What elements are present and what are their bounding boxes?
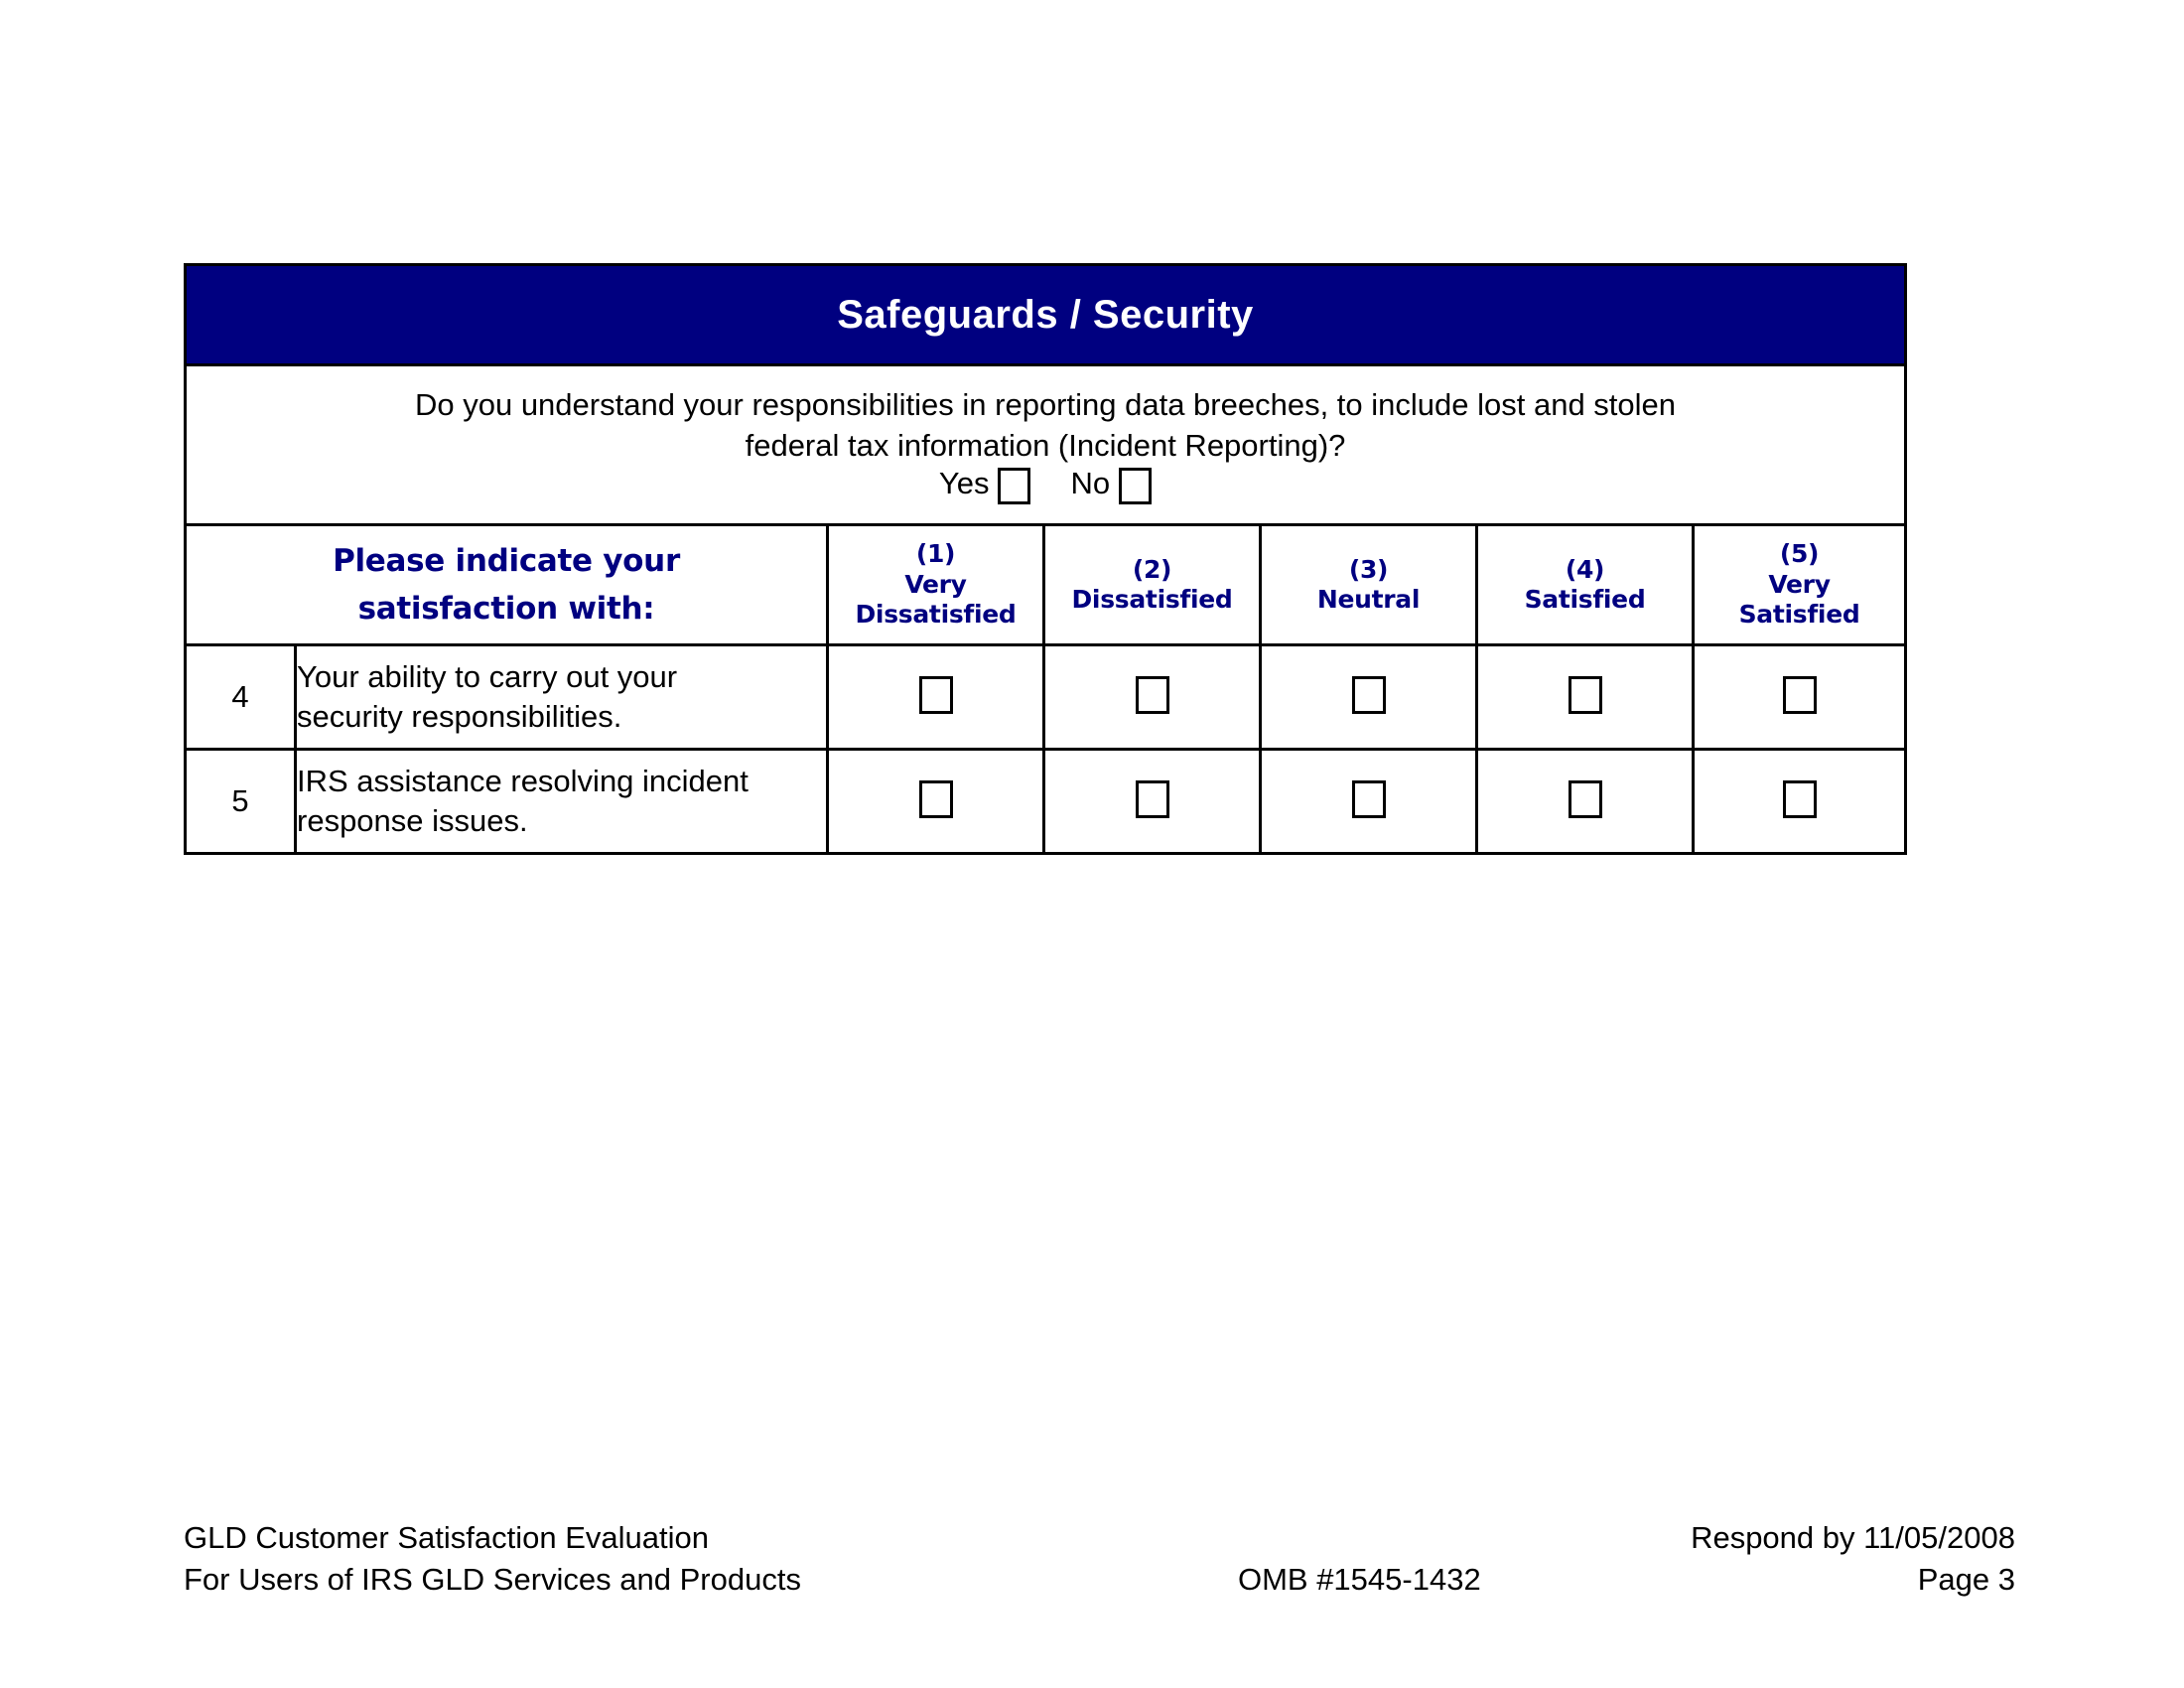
rating-column-number-4: (4) [1478,555,1692,586]
rating-column-header-3: (3) Neutral [1261,525,1477,645]
checkbox[interactable] [1569,780,1602,818]
table-row: 5 IRS assistance resolving incident resp… [186,750,1906,854]
rating-column-header-1: (1) Very Dissatisfied [828,525,1044,645]
checkbox[interactable] [1783,676,1817,714]
item-text-5-line-1: IRS assistance resolving incident [297,764,749,798]
checkbox[interactable] [1136,780,1169,818]
question-text-line-1: Do you understand your responsibilities … [415,387,1676,422]
item-5-rating-3[interactable] [1261,750,1477,854]
footer-page-number: Page 3 [1918,1559,2015,1601]
footer-respond-by: Respond by 11/05/2008 [1691,1517,2015,1559]
rating-column-header-2: (2) Dissatisfied [1044,525,1261,645]
checkbox[interactable] [1352,676,1386,714]
rating-column-number-3: (3) [1262,555,1475,586]
item-4-rating-3[interactable] [1261,645,1477,750]
item-4-rating-2[interactable] [1044,645,1261,750]
yes-checkbox[interactable] [998,468,1030,504]
checkbox[interactable] [919,676,953,714]
yes-no-question-text: Do you understand your responsibilities … [187,385,1904,467]
yes-label: Yes [939,468,990,504]
rating-column-header-4: (4) Satisfied [1477,525,1694,645]
item-5-rating-2[interactable] [1044,750,1261,854]
page-footer: GLD Customer Satisfaction Evaluation Res… [184,1517,2015,1600]
footer-title: GLD Customer Satisfaction Evaluation [184,1517,709,1559]
item-number-4: 4 [186,645,296,750]
item-text-5-line-2: response issues. [297,803,528,838]
yes-no-question-row: Do you understand your responsibilities … [186,365,1906,525]
rating-column-label-1a: Very [829,570,1042,601]
checkbox[interactable] [1783,780,1817,818]
item-4-rating-5[interactable] [1694,645,1906,750]
footer-omb-number: OMB #1545-1432 [1238,1559,1481,1601]
rating-column-label-5b: Satisfied [1695,600,1904,631]
item-text-5: IRS assistance resolving incident respon… [296,750,828,854]
item-text-4-line-1: Your ability to carry out your [297,659,677,694]
rating-column-label-1b: Dissatisfied [829,600,1042,631]
checkbox[interactable] [1136,676,1169,714]
rating-column-header-5: (5) Very Satisfied [1694,525,1906,645]
yes-no-answer-row: Yes No [187,468,1904,504]
footer-line-1: GLD Customer Satisfaction Evaluation Res… [184,1517,2015,1559]
rating-column-number-2: (2) [1045,555,1259,586]
item-text-4-line-2: security responsibilities. [297,699,621,734]
rating-prompt-line-2: satisfaction with: [187,585,826,633]
no-label: No [1070,468,1110,504]
checkbox[interactable] [1569,676,1602,714]
rating-column-label-5a: Very [1695,570,1904,601]
yes-option-group[interactable]: Yes [939,468,1031,504]
yes-no-question-cell: Do you understand your responsibilities … [186,365,1906,525]
footer-subtitle: For Users of IRS GLD Services and Produc… [184,1559,801,1601]
item-5-rating-5[interactable] [1694,750,1906,854]
rating-column-number-1: (1) [829,539,1042,570]
table-row: 4 Your ability to carry out your securit… [186,645,1906,750]
footer-line-2: For Users of IRS GLD Services and Produc… [184,1559,2015,1601]
item-4-rating-1[interactable] [828,645,1044,750]
safeguards-security-survey-table: Safeguards / Security Do you understand … [184,263,1907,855]
no-option-group[interactable]: No [1070,468,1152,504]
no-checkbox[interactable] [1119,468,1152,504]
item-5-rating-1[interactable] [828,750,1044,854]
rating-prompt-header: Please indicate your satisfaction with: [186,525,828,645]
item-5-rating-4[interactable] [1477,750,1694,854]
checkbox[interactable] [919,780,953,818]
section-banner-title: Safeguards / Security [186,265,1906,365]
rating-column-label-2a: Dissatisfied [1045,585,1259,616]
rating-header-row: Please indicate your satisfaction with: … [186,525,1906,645]
rating-column-number-5: (5) [1695,539,1904,570]
rating-prompt-line-1: Please indicate your [187,537,826,585]
section-banner-row: Safeguards / Security [186,265,1906,365]
rating-column-label-4a: Satisfied [1478,585,1692,616]
item-4-rating-4[interactable] [1477,645,1694,750]
checkbox[interactable] [1352,780,1386,818]
item-text-4: Your ability to carry out your security … [296,645,828,750]
rating-column-label-3a: Neutral [1262,585,1475,616]
item-number-5: 5 [186,750,296,854]
question-text-line-2: federal tax information (Incident Report… [746,428,1346,463]
